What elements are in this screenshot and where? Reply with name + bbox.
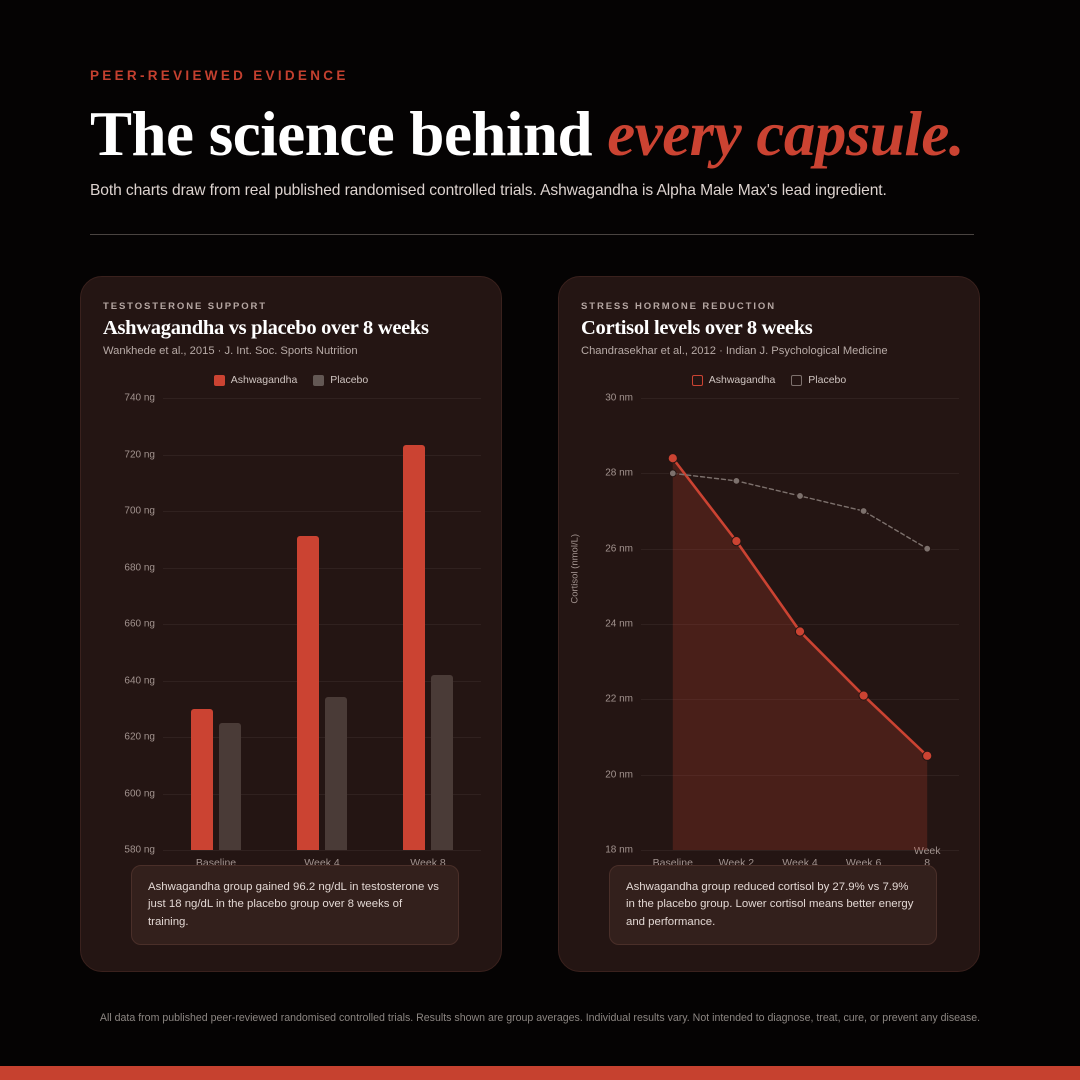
chart-cards: TESTOSTERONE SUPPORT Ashwagandha vs plac… [80,276,1000,972]
y-axis-tick-label: 26 nm [581,543,633,554]
callout-left: Ashwagandha group gained 96.2 ng/dL in t… [131,865,459,945]
card-eyebrow-left: TESTOSTERONE SUPPORT [103,301,479,312]
legend-label: Placebo [808,374,846,386]
y-axis-tick-label: 22 nm [581,694,633,705]
y-axis-tick-label: 18 nm [581,845,633,856]
callout-right: Ashwagandha group reduced cortisol by 27… [609,865,937,945]
gridline [163,850,481,851]
line-chart-plot: 18 nm20 nm22 nm24 nm26 nm28 nm30 nmCorti… [581,398,959,868]
bottom-accent-bar [0,1066,1080,1080]
card-title-left: Ashwagandha vs placebo over 8 weeks [103,317,479,340]
data-point-placebo-week-6 [860,508,867,515]
y-axis-tick-label: 580 ng [103,845,155,856]
data-point-ashwagandha-baseline [668,454,677,463]
y-axis-tick-label: 660 ng [103,619,155,630]
y-axis-tick-label: 24 nm [581,619,633,630]
legend-left: Ashwagandha Placebo [103,374,479,386]
data-point-ashwagandha-week-2 [732,537,741,546]
y-axis-tick-label: 700 ng [103,506,155,517]
y-axis-tick-label: 720 ng [103,449,155,460]
legend-right: Ashwagandha Placebo [581,374,957,386]
y-axis-tick-label: 30 nm [581,393,633,404]
y-axis-title: Cortisol (nmol/L) [570,534,581,604]
y-axis-tick-label: 600 ng [103,788,155,799]
bar-ashwagandha-week-8 [403,445,425,850]
bar-ashwagandha-baseline [191,709,213,850]
data-point-placebo-week-8 [924,545,931,552]
page-header: PEER-REVIEWED EVIDENCE The science behin… [90,68,990,200]
card-title-right: Cortisol levels over 8 weeks [581,317,957,340]
line-series-area [641,398,959,850]
card-cortisol: STRESS HORMONE REDUCTION Cortisol levels… [558,276,980,972]
legend-item-ashwagandha: Ashwagandha [692,374,776,386]
legend-item-placebo: Placebo [791,374,846,386]
headline-main: The science behind [90,99,607,169]
y-axis-tick-label: 680 ng [103,562,155,573]
data-point-placebo-baseline [669,470,676,477]
bar-chart-plot: 580 ng600 ng620 ng640 ng660 ng680 ng700 … [103,398,481,868]
legend-swatch-icon [791,375,802,386]
card-testosterone: TESTOSTERONE SUPPORT Ashwagandha vs plac… [80,276,502,972]
legend-swatch-icon [313,375,324,386]
card-source-right: Chandrasekhar et al., 2012 · Indian J. P… [581,345,957,357]
y-axis-tick-label: 640 ng [103,675,155,686]
bar-placebo-baseline [219,723,241,850]
bar-ashwagandha-week-4 [297,536,319,850]
header-divider [90,234,974,235]
headline-accent: every capsule. [607,99,964,169]
data-point-ashwagandha-week-4 [795,627,804,636]
y-axis-tick-label: 28 nm [581,468,633,479]
data-point-placebo-week-2 [733,477,740,484]
card-eyebrow-right: STRESS HORMONE REDUCTION [581,301,957,312]
data-point-ashwagandha-week-8 [923,751,932,760]
footer-disclaimer: All data from published peer-reviewed ra… [0,1012,1080,1024]
header-subhead: Both charts draw from real published ran… [90,182,990,200]
data-point-placebo-week-4 [797,493,804,500]
legend-swatch-icon [214,375,225,386]
legend-label: Ashwagandha [231,374,298,386]
card-source-left: Wankhede et al., 2015 · J. Int. Soc. Spo… [103,345,479,357]
y-axis-tick-label: 740 ng [103,393,155,404]
bar-series-area [163,398,481,850]
legend-label: Ashwagandha [709,374,776,386]
data-point-ashwagandha-week-6 [859,691,868,700]
page-title: The science behind every capsule. [90,101,990,167]
legend-item-ashwagandha: Ashwagandha [214,374,298,386]
y-axis-tick-label: 620 ng [103,732,155,743]
legend-item-placebo: Placebo [313,374,368,386]
area-fill-ashwagandha [673,458,927,850]
header-eyebrow: PEER-REVIEWED EVIDENCE [90,68,990,83]
bar-placebo-week-4 [325,697,347,850]
y-axis-tick-label: 20 nm [581,769,633,780]
infographic-page: PEER-REVIEWED EVIDENCE The science behin… [0,0,1080,1080]
bar-placebo-week-8 [431,675,453,850]
legend-swatch-icon [692,375,703,386]
legend-label: Placebo [330,374,368,386]
